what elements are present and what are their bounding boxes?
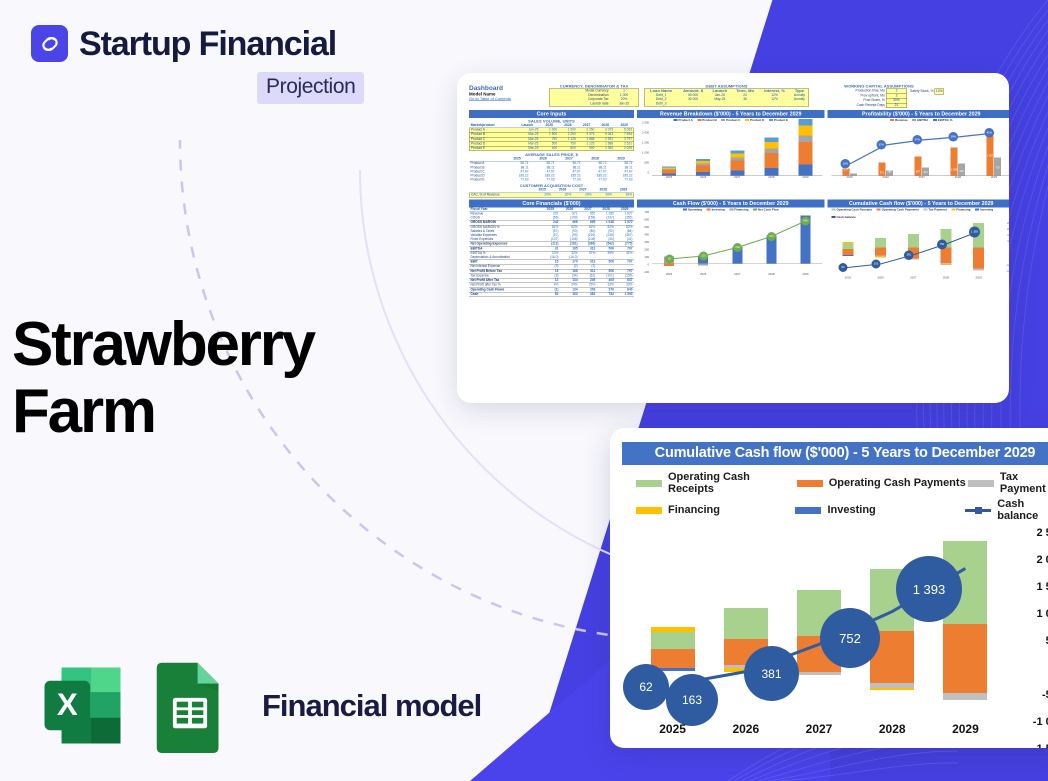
cumulative-cash-flow-card[interactable]: Cumulative Cash flow ($'000) - 5 Years t… [610,428,1048,748]
legend-label: Operating Cash Payments [882,208,919,211]
legend-label: Tax Payment [1000,471,1048,495]
y-tick: 1 000 [642,152,649,155]
x-axis: 2025 2026 2027 2028 2029 [636,722,1002,744]
cell: 20% [573,193,593,198]
cumulative-cash-flow-legend: Operating Cash Receipts Operating Cash P… [622,465,1048,527]
cell: 163 [560,292,579,297]
x-tick: 2029 [976,176,1009,182]
ebitda-pct-marker: 41% [985,128,995,138]
legend-item: Product A [674,119,693,122]
cash-balance-bubble: 381 [904,250,914,260]
legend-label: Net Cash Flow [758,208,779,211]
segment-tax [797,672,841,675]
brand-subtitle: Projection [257,72,364,104]
cell: 381 [579,292,597,297]
legend-label: Financing [668,504,720,516]
legend-item-payments: Operating Cash Payments [797,471,968,495]
sales-volume-table: Market/product Launch 2025 2026 2027 202… [469,124,634,152]
cell: 20% [552,193,572,198]
x-tick: 2029 [962,276,995,282]
x-tick: 2026 [709,722,782,744]
legend-swatch [797,480,823,487]
dashboard-title: Dashboard [469,84,544,92]
legend-item: Revenue [890,119,908,122]
cash-balance-bubble-2026: 163 [666,674,718,726]
legend-label: EBITDA % [938,119,953,122]
y-tick: 1 000 [1036,608,1048,620]
cumulative-small-legend: Operating Cash Receipts Operating Cash P… [828,207,1010,220]
legend-item-tax: Tax Payment [968,471,1048,495]
legend-label: Cash balance [997,498,1048,522]
core-financials-body: Revenue2975718571 2851 927COGS(56)(109)(… [469,212,634,297]
net-cash-marker: 62 [665,254,674,263]
google-sheets-icon [152,658,228,753]
segment-financing [870,688,914,690]
table-row: Product E77.0377.0377.0377.0377.03 [469,178,634,182]
x-tick: 2027 [782,722,855,744]
core-financials-title: Core Financials ($'000) [469,199,634,207]
x-tick: 2027 [720,176,754,182]
legend-swatch [795,507,821,514]
currency-section-title: CURRENCY, DENOMINATOR & TAX [549,84,639,89]
legend-label: Revenue [895,119,908,122]
row-value: 10% [935,89,944,95]
legend-item: Investing [707,208,725,211]
cash-balance-bubble-2027: 381 [744,646,799,701]
cash-flow-chart: Cash Flow ($'000) - 5 Years to December … [637,199,825,297]
ebitda-pct-marker: 37% [913,135,923,145]
y-tick: 600 [644,218,649,221]
cumulative-cash-flow-plot: 62 163 381 752 1 393 2 500 2 000 1 500 1… [622,529,1048,744]
dashboard-sheet: Dashboard Model Name Go to Table of Cont… [467,81,1009,403]
wc-table: Production time, Mo2 Prov upfront, Mo2 P… [814,89,907,109]
legend-swatch [636,507,662,514]
legend-item: Cash balance [832,216,856,219]
debt-assumptions-block: DEBT ASSUMPTIONS Loan Name Amount, $ Lau… [644,84,809,107]
cell: CAC, % of Revenue [469,193,532,198]
cell: 400 [540,146,559,151]
legend-item-cash-balance: Cash balance [965,498,1048,522]
dashboard-toc-link[interactable]: Go to Table of Contents [469,97,544,102]
svg-text:X: X [57,687,78,722]
legend-label: Product D [750,119,764,122]
legend-item: Product E [769,119,788,122]
net-cash-marker: 101 [699,251,708,260]
cell: Mar-25 [515,146,540,151]
y-tick: 100 [644,256,649,259]
x-tick: 2028 [856,722,929,744]
x-tick: 2025 [636,722,709,744]
legend-label: Investing [827,504,875,516]
avg-price-table: 2025 2026 2027 2028 2029 Product A58.715… [469,157,634,182]
ebitda-pct-marker: 10% [841,159,851,169]
legend-label: Financing [734,208,748,211]
cash-balance-bubble: 752 [937,239,947,249]
x-tick: 2026 [686,273,720,280]
cac-table: 2025 2026 2027 2028 2029 CAC, % of Reven… [469,188,634,197]
revenue-breakdown-title: Revenue Breakdown ($'000) - 5 Years to D… [637,110,825,118]
legend-item: Tax Payment [924,208,947,211]
cash-balance-bubble-2029: 1 393 [896,556,962,622]
net-cash-marker: 218 [733,243,742,252]
legend-item-financing: Financing [636,498,795,522]
dashboard-preview-card[interactable]: Dashboard Model Name Go to Table of Cont… [457,73,1009,403]
y-tick: -1 500 [1033,743,1048,748]
y-tick: -1 000 [1033,716,1048,728]
legend-label: Operating Cash Receipts [837,208,873,211]
legend-label: Product C [726,119,740,122]
cash-balance-bubble: 163 [872,259,881,268]
cell: 77.03 [608,178,634,182]
row-label: Safety Stock, % [909,89,935,95]
page-title: Strawberry Farm [12,312,442,446]
row-value: 21 [886,103,907,108]
x-tick: 2026 [868,176,904,182]
core-financials-table: Fiscal Year 2025 2026 2027 2028 2029 Rev… [469,207,634,297]
cell: Debt_3 [644,102,678,107]
y-tick: -500 [1042,689,1048,701]
cell: 900 [577,146,596,151]
row-label: Cash Receipt Days [814,103,886,108]
cell: 77.03 [530,178,556,182]
y-tick: 200 [644,248,649,251]
x-tick: 2028 [930,276,963,282]
legend-label: Investing [980,208,993,211]
cell: 77.03 [582,178,608,182]
wc-extra-table: Safety Stock, %10% [909,89,944,95]
legend-label: EBITDA [917,119,928,122]
cell: Product E [469,146,515,151]
cell: 77.03 [504,178,530,182]
x-tick: 2028 [940,176,976,182]
y-tick: 0 [647,263,649,266]
y-tick: 500 [644,162,649,165]
legend-swatch [636,480,662,487]
y-tick: 0 [647,172,649,175]
core-inputs-title: Core Inputs [469,110,634,118]
table-row: Safety Stock, %10% [909,89,944,95]
legend-item: Product D [745,119,764,122]
cell: 752 [597,292,616,297]
x-tick: 2025 [832,176,868,182]
cell: 1 393 [615,292,634,297]
currency-table: Model Currency1 Denomination1 000 Corpor… [549,89,639,107]
legend-label: Investing [712,208,725,211]
ebitda-percent-line [832,125,1010,176]
table-row: Net Operating Expenses(211)(281)(386)(54… [469,242,634,247]
y-tick: 400 [644,233,649,236]
profitability-title: Profitability ($'000) - 5 Years to Decem… [828,110,1010,118]
working-capital-block: WORKING CAPITAL ASSUMPTIONS Production t… [814,84,944,108]
legend-item: Product C [721,119,740,122]
dashboard-header-block: Dashboard Model Name Go to Table of Cont… [469,84,544,101]
debt-table: Loan Name Amount, $ Launch Term, Mo Inte… [644,89,809,107]
legend-label: Product E [774,119,788,122]
row-value: Jan-25 [610,102,639,107]
table-row: Cash Receipt Days21 [814,103,907,108]
stacked-bar [651,627,695,671]
legend-label: Tax Payment [929,208,947,211]
table-row: CAC, % of Revenue20%20%20%20%20% [469,193,634,198]
core-financials-block: Core Financials ($'000) Fiscal Year 2025… [469,199,634,297]
cash-balance-bubble: 1 393 [969,226,980,237]
y-axis: 2 500 2 000 1 500 1 000 500 0 -500 -1 00… [1006,529,1048,715]
x-tick: 2026 [686,176,720,182]
logo-mark-icon [31,25,68,62]
x-tick: 2026 [864,276,897,282]
cash-balance-bubble-2028: 752 [820,608,880,668]
cash-balance-bubble: 62 [839,263,848,272]
x-tick: 2028 [754,273,788,280]
y-tick: 2 000 [1036,554,1048,566]
cell: 20% [593,193,613,198]
x-tick: 2025 [832,276,865,282]
cell: 62 [541,292,560,297]
table-row: Product EMar-254006009001 3502 025 [469,146,634,151]
y-tick: 2 500 [1036,527,1048,539]
cell: Product E [469,178,504,182]
segment-payments [651,649,695,668]
cell: 20% [532,193,552,198]
legend-item-investing: Investing [795,498,965,522]
revenue-breakdown-chart: Revenue Breakdown ($'000) - 5 Years to D… [637,110,825,197]
cash-flow-title: Cash Flow ($'000) - 5 Years to December … [637,199,825,207]
legend-line-swatch [965,507,991,514]
legend-item: EBITDA % [933,119,953,122]
net-cash-marker: 371 [767,232,776,241]
x-tick: 2027 [897,276,930,282]
cell: 2 025 [615,146,634,151]
y-tick: 2 500 [642,122,649,125]
legend-item: Financing [951,208,970,211]
y-tick: 1 500 [642,142,649,145]
row-label: Cash [469,292,541,297]
y-tick: 2 000 [642,132,649,135]
format-badges: X Financial model [35,658,481,753]
x-tick: 2028 [754,176,788,182]
ebitda-pct-marker: 32% [877,140,887,150]
net-cash-marker: 640 [801,216,810,225]
table-row: Cash621633817521 393 [469,292,634,297]
legend-item: EBITDA [912,119,928,122]
legend-item-receipts: Operating Cash Receipts [636,471,797,495]
x-tick: 2025 [652,273,686,280]
segment-payments [943,624,987,693]
row-label: Launch date [549,102,609,107]
x-tick: 2029 [929,722,1002,744]
legend-item: Operating Cash Payments [877,208,919,211]
table-header-row: Loan Name Amount, $ Launch Term, Mo Inte… [644,89,809,94]
legend-item: Product B [697,119,716,122]
x-tick: 2027 [904,176,940,182]
cumulative-cash-flow-chart-small: Cumulative Cash flow ($'000) - 5 Years t… [828,199,1010,297]
cumulative-small-title: Cumulative Cash flow ($'000) - 5 Years t… [828,199,1010,207]
segment-receipts [651,632,695,649]
legend-label: Operating Cash Payments [829,477,966,489]
segment-tax [943,693,987,700]
legend-label: Operating [688,208,702,211]
x-tick: 2027 [720,273,754,280]
legend-label: Financing [956,208,970,211]
legend-swatch [968,480,994,487]
cell: 77.03 [556,178,582,182]
legend-item: Operating [683,208,702,211]
y-tick: 700 [644,211,649,214]
cell: 20% [613,193,633,198]
brand-name: Startup Financial [79,27,336,61]
x-tick: 2029 [788,176,822,182]
y-tick: 300 [644,241,649,244]
legend-item: Investing [975,208,993,211]
legend-item: Operating Cash Receipts [832,208,873,211]
poster-root: Startup Financial Projection Strawberry … [0,0,1048,781]
legend-item: Financing [729,208,748,211]
ebitda-pct-marker: 39% [949,132,959,142]
legend-item: Net Cash Flow [753,208,779,211]
legend-label: Cash balance [837,216,856,219]
legend-label: Product A [679,119,693,122]
brand-logo: Startup Financial [31,25,336,62]
table-row: Launch dateJan-25 [549,102,639,107]
cumulative-cash-flow-title: Cumulative Cash flow ($'000) - 5 Years t… [622,442,1048,465]
core-inputs-column: Core Inputs SALES VOLUME, UNITS Market/p… [469,110,634,197]
profitability-chart: Profitability ($'000) - 5 Years to Decem… [828,110,1010,197]
y-tick: -100 [643,271,649,274]
cash-balance-bubble-2025: 62 [623,664,669,710]
format-label: Financial model [262,688,481,724]
microsoft-excel-icon: X [35,658,130,753]
x-tick: 2029 [788,273,822,280]
legend-label: Operating Cash Receipts [668,471,797,495]
y-tick: 500 [644,226,649,229]
segment-receipts [724,608,768,639]
cell: 600 [559,146,578,151]
currency-assumptions-block: CURRENCY, DENOMINATOR & TAX Model Curren… [549,84,639,107]
cell: 1 350 [596,146,615,151]
table-row: Debt_3 [644,102,809,107]
x-tick: 2025 [652,176,686,182]
y-tick: 1 500 [1036,581,1048,593]
legend-label: Product B [702,119,716,122]
